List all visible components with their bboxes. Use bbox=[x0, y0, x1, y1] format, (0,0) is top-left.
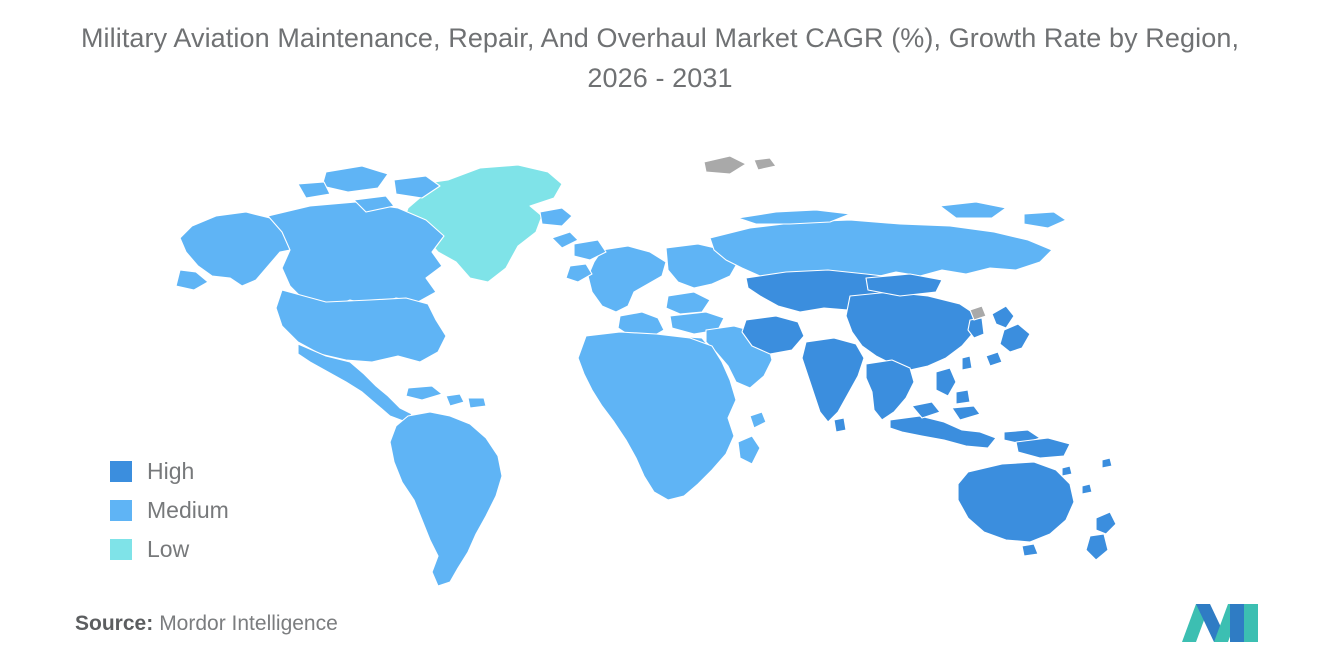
source-value: Mordor Intelligence bbox=[159, 612, 338, 635]
logo-shapes bbox=[1182, 604, 1258, 642]
page-title: Military Aviation Maintenance, Repair, A… bbox=[60, 18, 1260, 98]
legend-label-low: Low bbox=[147, 538, 189, 561]
legend-label-high: High bbox=[147, 460, 194, 483]
legend-swatch-medium bbox=[110, 500, 132, 521]
map-legend: High Medium Low bbox=[110, 452, 340, 569]
mordor-intelligence-logo[interactable] bbox=[1180, 598, 1260, 644]
legend-swatch-high bbox=[110, 461, 132, 482]
source-line: Source:Mordor Intelligence bbox=[75, 612, 338, 636]
legend-item-high[interactable]: High bbox=[110, 452, 340, 491]
source-label: Source: bbox=[75, 612, 153, 635]
regions-high bbox=[742, 270, 1116, 560]
legend-item-low[interactable]: Low bbox=[110, 530, 340, 569]
legend-label-medium: Medium bbox=[147, 499, 229, 522]
chart-page: Military Aviation Maintenance, Repair, A… bbox=[0, 0, 1320, 665]
legend-item-medium[interactable]: Medium bbox=[110, 491, 340, 530]
legend-swatch-low bbox=[110, 539, 132, 560]
